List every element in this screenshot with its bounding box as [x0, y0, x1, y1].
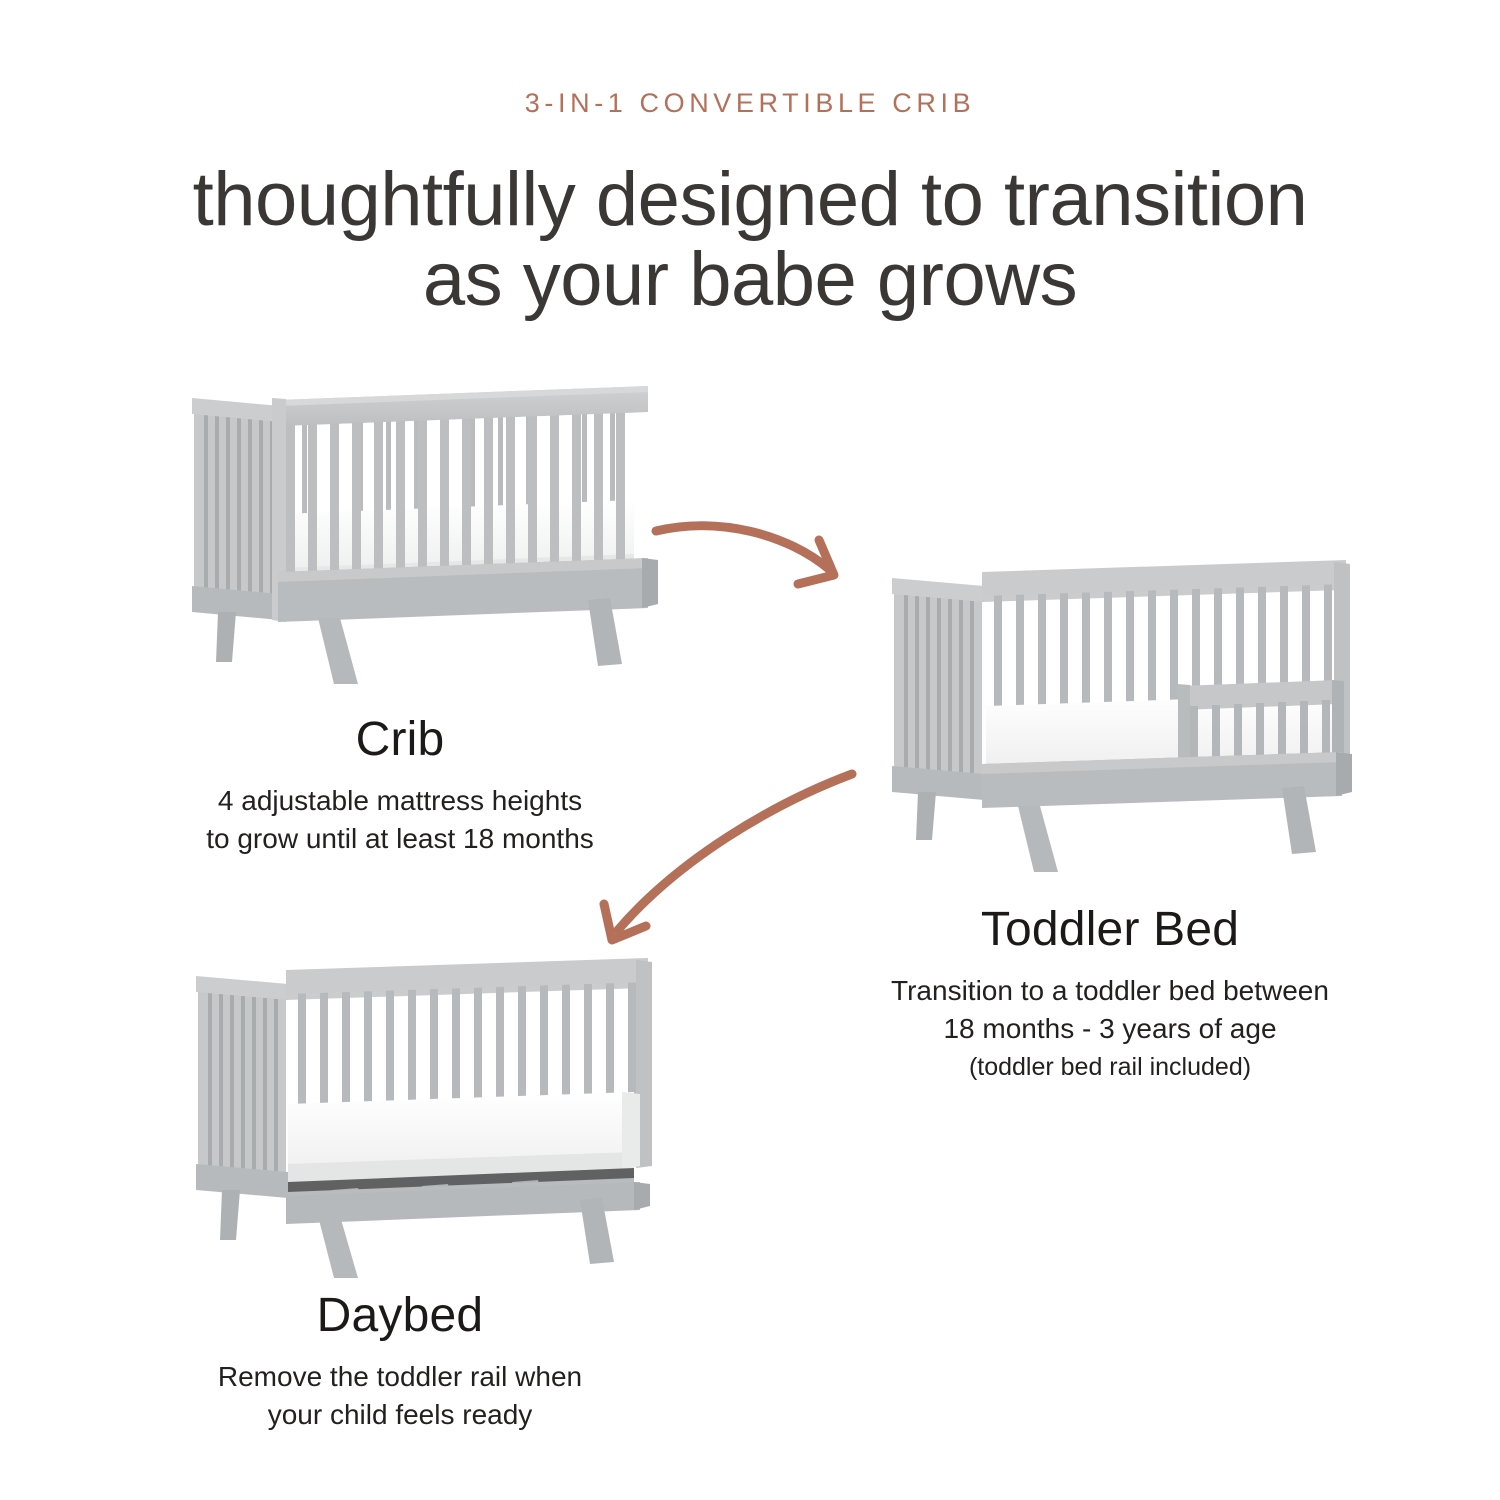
toddler-bed-label: Toddler Bed — [850, 902, 1370, 957]
daybed-illustration — [182, 952, 662, 1282]
infographic-page: 3-IN-1 CONVERTIBLE CRIB thoughtfully des… — [0, 0, 1500, 1500]
arrow-toddler-bed-to-daybed — [560, 748, 890, 968]
crib-leg-front-left — [318, 618, 358, 684]
crib-caption-line-1: 4 adjustable mattress heights — [218, 785, 582, 816]
headline-line-2: as your babe grows — [0, 240, 1500, 320]
arrow-2-svg — [560, 748, 890, 963]
daybed-svg — [182, 952, 662, 1282]
arrow-1-svg — [648, 498, 878, 603]
toddler-bed-caption: Transition to a toddler bed between 18 m… — [850, 972, 1370, 1086]
daybed-leg-front-left — [318, 1216, 358, 1278]
page-title: thoughtfully designed to transition as y… — [0, 160, 1500, 320]
daybed-caption: Remove the toddler rail when your child … — [140, 1358, 660, 1434]
toddler-leg-front-left — [1018, 806, 1058, 872]
daybed-caption-line-1: Remove the toddler rail when — [218, 1361, 582, 1392]
crib-svg — [182, 372, 662, 690]
eyebrow-text: 3-IN-1 CONVERTIBLE CRIB — [0, 88, 1500, 119]
daybed-leg-rear-left — [220, 1190, 240, 1240]
daybed-label: Daybed — [140, 1288, 660, 1343]
toddler-leg-rear-left — [916, 792, 936, 840]
toddler-caption-small: (toddler bed rail included) — [850, 1048, 1370, 1086]
daybed-caption-line-2: your child feels ready — [268, 1399, 533, 1430]
toddler-bed-illustration — [872, 558, 1362, 878]
headline-line-1: thoughtfully designed to transition — [193, 157, 1308, 242]
crib-caption-line-2: to grow until at least 18 months — [206, 823, 594, 854]
arrow-crib-to-toddler-bed — [648, 498, 878, 608]
toddler-caption-line-1: Transition to a toddler bed between — [891, 975, 1329, 1006]
toddler-caption-line-2: 18 months - 3 years of age — [943, 1013, 1276, 1044]
crib-leg-rear-left — [216, 612, 236, 662]
crib-illustration — [182, 372, 662, 690]
toddler-bed-svg — [872, 558, 1362, 878]
